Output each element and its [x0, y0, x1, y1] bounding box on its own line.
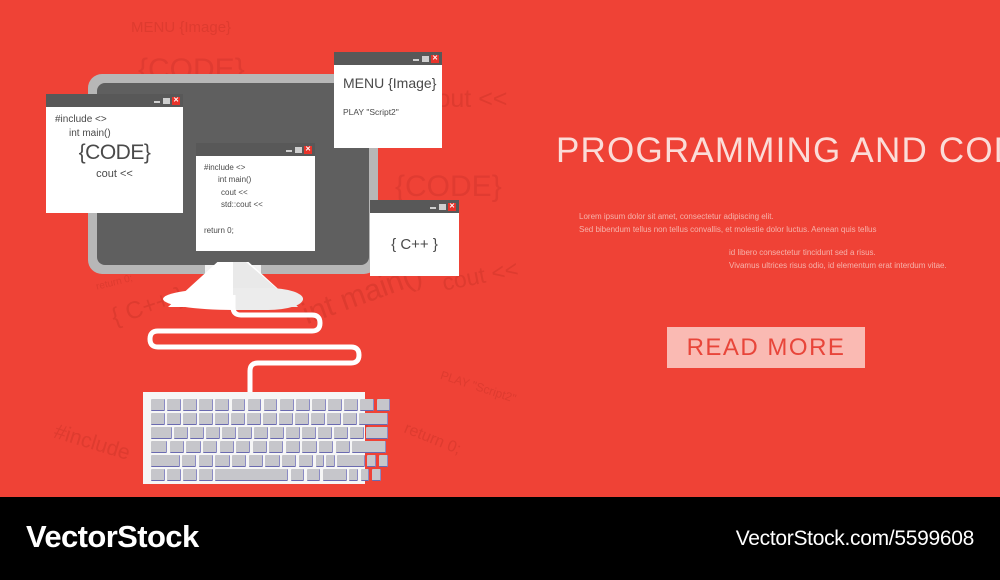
keyboard-key[interactable]	[316, 455, 325, 467]
keyboard-key[interactable]	[203, 441, 217, 453]
code-line: std::cout <<	[221, 199, 307, 211]
close-icon[interactable]: ✕	[448, 203, 456, 211]
keyboard-key[interactable]	[215, 469, 288, 481]
watermark-footer: VectorStock VectorStock.com/5599608	[0, 497, 1000, 580]
code-line: cout <<	[221, 187, 307, 199]
keyboard-key[interactable]	[265, 455, 279, 467]
keyboard-key[interactable]	[327, 413, 341, 425]
keyboard-key[interactable]	[372, 469, 381, 481]
keyboard-key[interactable]	[199, 413, 213, 425]
vectorstock-url: VectorStock.com/5599608	[736, 527, 974, 551]
keyboard-key[interactable]	[151, 399, 165, 411]
keyboard-row	[151, 427, 357, 439]
keyboard-key[interactable]	[174, 427, 188, 439]
code-line: #include <>	[204, 162, 307, 174]
keyboard-key[interactable]	[282, 455, 296, 467]
keyboard-key[interactable]	[360, 399, 374, 411]
keyboard-key[interactable]	[312, 399, 326, 411]
keyboard-key[interactable]	[199, 455, 213, 467]
keyboard-key[interactable]	[199, 469, 213, 481]
keyboard-key[interactable]	[238, 427, 252, 439]
keyboard-key[interactable]	[366, 427, 388, 439]
keyboard-key[interactable]	[215, 413, 229, 425]
keyboard-key[interactable]	[326, 455, 335, 467]
keyboard-key[interactable]	[186, 441, 200, 453]
keyboard-key[interactable]	[302, 427, 316, 439]
keyboard-key[interactable]	[263, 413, 277, 425]
window-menu[interactable]: ✕ MENU {Image} PLAY "Script2"	[334, 52, 442, 148]
keyboard-key[interactable]	[295, 413, 309, 425]
keyboard-key[interactable]	[319, 441, 333, 453]
keyboard-key[interactable]	[279, 413, 293, 425]
window-cpp[interactable]: ✕ { C++ }	[370, 200, 459, 276]
keyboard-key[interactable]	[269, 441, 283, 453]
keyboard-key[interactable]	[199, 399, 213, 411]
keyboard-row	[151, 455, 357, 467]
keyboard-key[interactable]	[151, 469, 165, 481]
window-code[interactable]: ✕ #include <> int main() {CODE} cout <<	[46, 94, 183, 213]
minimize-icon[interactable]	[413, 59, 419, 61]
keyboard-key[interactable]	[337, 455, 364, 467]
watermark-text: #include	[51, 420, 133, 466]
maximize-icon[interactable]	[163, 98, 170, 104]
keyboard-key[interactable]	[367, 455, 376, 467]
keyboard-key[interactable]	[183, 399, 197, 411]
maximize-icon[interactable]	[439, 204, 446, 210]
keyboard-key[interactable]	[299, 455, 313, 467]
code-line: cout <<	[55, 168, 174, 180]
keyboard-key[interactable]	[343, 413, 357, 425]
close-icon[interactable]: ✕	[304, 146, 312, 154]
minimize-icon[interactable]	[154, 101, 160, 103]
code-line: int main()	[69, 128, 174, 139]
keyboard-key[interactable]	[167, 413, 181, 425]
keyboard-key[interactable]	[377, 399, 391, 411]
body-line: Vivamus ultrices risus odio, id elementu…	[729, 259, 947, 272]
window-titlebar[interactable]: ✕	[334, 52, 442, 65]
keyboard-key[interactable]	[336, 441, 350, 453]
keyboard-key[interactable]	[222, 427, 236, 439]
keyboard-key[interactable]	[170, 441, 184, 453]
keyboard-key[interactable]	[280, 399, 294, 411]
keyboard-key[interactable]	[379, 455, 388, 467]
window-titlebar[interactable]: ✕	[196, 143, 315, 156]
keyboard-key[interactable]	[296, 399, 310, 411]
keyboard-key[interactable]	[344, 399, 358, 411]
keyboard-key[interactable]	[248, 399, 262, 411]
keyboard-key[interactable]	[361, 469, 370, 481]
page-title: PROGRAMMING AND CODING	[556, 131, 1000, 171]
keyboard-key[interactable]	[232, 399, 246, 411]
keyboard-key[interactable]	[286, 441, 300, 453]
watermark-text: return 0;	[401, 420, 463, 459]
window-menu-body: MENU {Image} PLAY "Script2"	[334, 65, 442, 127]
keyboard-key[interactable]	[349, 469, 358, 481]
body-line: Sed bibendum tellus non tellus convallis…	[579, 223, 877, 236]
code-title: {CODE}	[55, 141, 174, 165]
keyboard-key[interactable]	[206, 427, 220, 439]
keyboard-key[interactable]	[215, 455, 229, 467]
cpp-label: { C++ }	[370, 213, 459, 276]
window-titlebar[interactable]: ✕	[46, 94, 183, 107]
keyboard-key[interactable]	[286, 427, 300, 439]
keyboard-key[interactable]	[151, 413, 165, 425]
watermark-text: PLAY "Script2"	[439, 368, 518, 406]
body-paragraph-secondary: id libero consectetur tincidunt sed a ri…	[729, 246, 947, 272]
maximize-icon[interactable]	[422, 56, 429, 62]
keyboard-row	[151, 399, 357, 411]
keyboard[interactable]	[143, 392, 365, 484]
keyboard-key[interactable]	[254, 427, 268, 439]
body-paragraph-primary: Lorem ipsum dolor sit amet, consectetur …	[579, 210, 877, 236]
close-icon[interactable]: ✕	[172, 97, 180, 105]
keyboard-key[interactable]	[151, 427, 172, 439]
vectorstock-logo: VectorStock	[26, 519, 199, 555]
keyboard-key[interactable]	[151, 455, 180, 467]
window-main-code[interactable]: ✕ #include <> int main() cout << std::co…	[196, 143, 315, 251]
keyboard-key[interactable]	[167, 469, 181, 481]
keyboard-key[interactable]	[215, 399, 229, 411]
keyboard-row	[151, 469, 357, 481]
keyboard-key[interactable]	[183, 413, 197, 425]
watermark-text: MENU {Image}	[131, 19, 231, 36]
watermark-text: {CODE}	[395, 170, 502, 204]
keyboard-key[interactable]	[236, 441, 250, 453]
minimize-icon[interactable]	[286, 150, 292, 152]
keyboard-key[interactable]	[270, 427, 284, 439]
keyboard-key[interactable]	[151, 441, 167, 453]
keyboard-key[interactable]	[302, 441, 316, 453]
menu-title: MENU {Image}	[343, 75, 433, 91]
keyboard-row	[151, 441, 357, 453]
code-line: return 0;	[204, 225, 307, 237]
body-line: Lorem ipsum dolor sit amet, consectetur …	[579, 210, 877, 223]
keyboard-key[interactable]	[190, 427, 204, 439]
keyboard-key[interactable]	[264, 399, 278, 411]
keyboard-key[interactable]	[231, 413, 245, 425]
read-more-button[interactable]: READ MORE	[667, 327, 865, 368]
poster-red-area: MENU {Image}{CODE}cout <<{CODE}cout <<PL…	[0, 0, 1000, 497]
maximize-icon[interactable]	[295, 147, 302, 153]
keyboard-key[interactable]	[352, 441, 385, 453]
keyboard-key[interactable]	[328, 399, 342, 411]
keyboard-row	[151, 413, 357, 425]
keyboard-key[interactable]	[182, 455, 196, 467]
body-line: id libero consectetur tincidunt sed a ri…	[729, 246, 947, 259]
minimize-icon[interactable]	[430, 207, 436, 209]
keyboard-key[interactable]	[183, 469, 197, 481]
keyboard-key[interactable]	[220, 441, 234, 453]
keyboard-key[interactable]	[334, 427, 348, 439]
keyboard-key[interactable]	[167, 399, 181, 411]
keyboard-key[interactable]	[318, 427, 332, 439]
keyboard-cable	[140, 295, 400, 405]
code-line: #include <>	[55, 114, 174, 125]
keyboard-key[interactable]	[307, 469, 321, 481]
window-titlebar[interactable]: ✕	[370, 200, 459, 213]
keyboard-key[interactable]	[350, 427, 364, 439]
keyboard-key[interactable]	[291, 469, 305, 481]
menu-play-line: PLAY "Script2"	[343, 107, 433, 117]
keyboard-key[interactable]	[311, 413, 325, 425]
close-icon[interactable]: ✕	[431, 55, 439, 63]
keyboard-key[interactable]	[359, 413, 388, 425]
keyboard-key[interactable]	[247, 413, 261, 425]
poster-canvas: MENU {Image}{CODE}cout <<{CODE}cout <<PL…	[0, 0, 1000, 580]
window-code-body: #include <> int main() {CODE} cout <<	[46, 107, 183, 187]
keyboard-key[interactable]	[323, 469, 347, 481]
keyboard-key[interactable]	[232, 455, 246, 467]
keyboard-key[interactable]	[253, 441, 267, 453]
keyboard-key[interactable]	[249, 455, 263, 467]
watermark-text: return 0;	[95, 273, 134, 293]
window-main-code-body: #include <> int main() cout << std::cout…	[196, 156, 315, 243]
code-line: int main()	[218, 174, 307, 186]
